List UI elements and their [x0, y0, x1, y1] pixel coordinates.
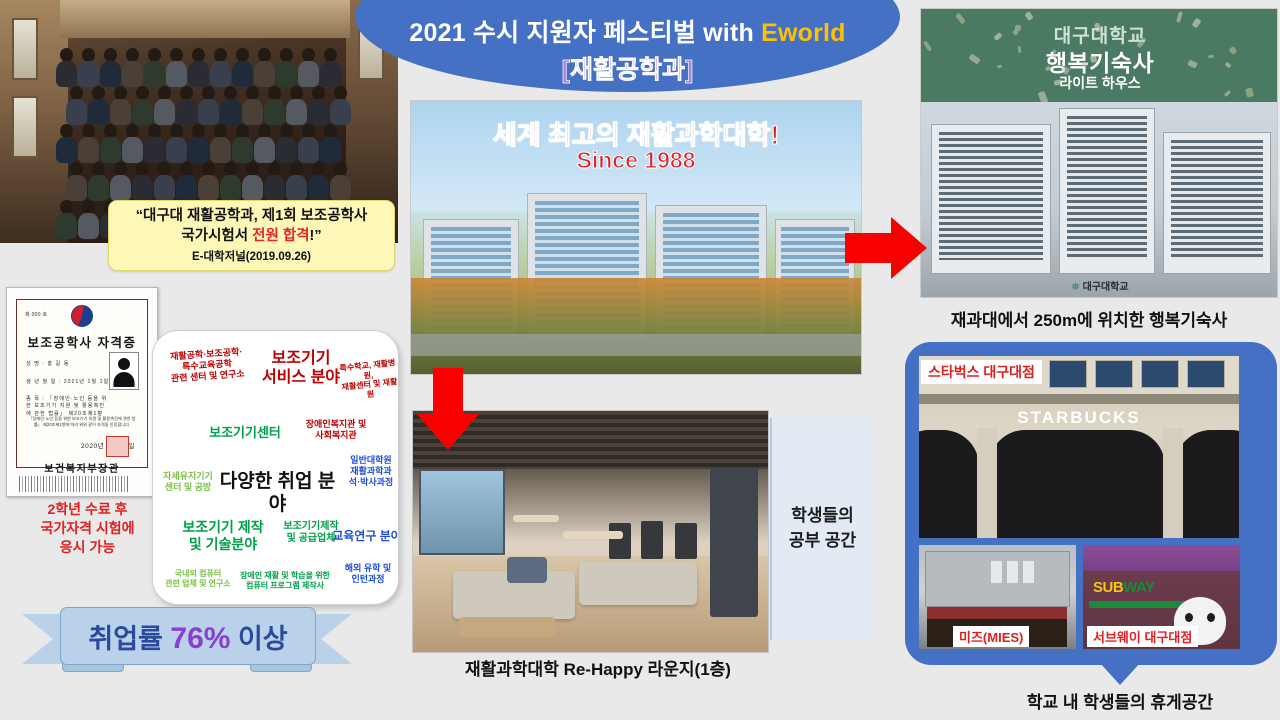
wordcloud-term: 보조기기 제작 및 기술분야 — [167, 519, 279, 553]
crowd-person-body — [308, 175, 329, 201]
wordcloud-term: 장애인 재활 및 학습을 위한 컴퓨터 프로그램 제작사 — [235, 571, 335, 590]
crowd-person-body — [100, 137, 121, 163]
certificate-portrait — [109, 352, 139, 390]
crowd-person — [60, 200, 73, 214]
crowd-person — [192, 124, 205, 138]
crowd-person — [268, 162, 281, 176]
starbucks-label: 스타벅스 대구대점 — [921, 360, 1042, 384]
starbucks-column-1 — [977, 428, 997, 538]
crowd-person-body — [210, 137, 231, 163]
arrow-right-icon — [845, 215, 927, 281]
crowd-person — [114, 162, 127, 176]
crowd-person — [334, 162, 347, 176]
starbucks-window-2 — [1095, 360, 1133, 388]
crowd-person — [60, 48, 73, 62]
crowd-person-body — [254, 137, 275, 163]
crowd-person-body — [264, 175, 285, 201]
crowd-person — [214, 124, 227, 138]
crowd-person — [202, 86, 215, 100]
starbucks-sign: STARBUCKS — [919, 408, 1239, 428]
crowd-person-body — [66, 99, 87, 125]
crowd-person-body — [298, 137, 319, 163]
employment-rate-ribbon: 취업률 76% 이상 — [22, 604, 352, 674]
crowd-person — [92, 86, 105, 100]
crowd-person — [268, 86, 281, 100]
crowd-person-body — [198, 99, 219, 125]
crowd-person — [136, 86, 149, 100]
crowd-person-body — [188, 61, 209, 87]
certificate-row-scope: 종 목 : 「장애인·노인 등을 위한 보조기기 지원 및 활용촉진에 관한 법… — [26, 396, 110, 418]
crowd-person-body — [144, 137, 165, 163]
crowd-person — [312, 162, 325, 176]
campus-photo: 세계 최고의 재활과학대학! Since 1988 — [410, 100, 862, 375]
certificate-barcode — [19, 476, 129, 492]
dormitory-logo-label: 대구대학교 — [1083, 282, 1129, 293]
crowd-person — [192, 48, 205, 62]
subway-label: 서브웨이 대구대점 — [1087, 626, 1198, 647]
crowd-person — [258, 124, 271, 138]
wordcloud-term: 보조기기 서비스 분야 — [253, 349, 349, 387]
mies-window-2 — [1007, 561, 1018, 583]
dormitory-building-photo: ❄ 대구대학교 — [921, 102, 1278, 298]
crowd-person-body — [78, 61, 99, 87]
starbucks-arch-center — [989, 430, 1165, 538]
crowd-person-body — [232, 61, 253, 87]
lounge-chair-3 — [675, 523, 697, 559]
study-space-text: 학생들의 공부 공간 — [789, 504, 856, 553]
crowd-person — [180, 86, 193, 100]
wordcloud-term: 보조기기센터 — [189, 425, 301, 441]
crowd-person — [246, 162, 259, 176]
crowd-person — [290, 162, 303, 176]
crowd-person-body — [254, 61, 275, 87]
subway-sign: SUBWAY — [1093, 579, 1154, 596]
crowd-person — [302, 124, 315, 138]
confetti-decoration — [1024, 11, 1033, 21]
crowd-person — [148, 124, 161, 138]
crowd-person-body — [188, 137, 209, 163]
ribbon-percent: 76% — [170, 622, 230, 655]
lounge-chair-1 — [609, 523, 631, 559]
dormitory-logo-text: ❄ 대구대학교 — [1071, 278, 1128, 293]
crowd-person-body — [330, 99, 351, 125]
crowd-person-body — [286, 99, 307, 125]
starbucks-facade-band — [919, 394, 1239, 404]
campus-road — [411, 334, 861, 356]
wordcloud-term: 교육연구 분야 — [331, 529, 399, 543]
dorm-windows-right — [1171, 140, 1263, 260]
crowd-person-body — [88, 175, 109, 201]
crowd-person-body — [176, 175, 197, 201]
lounge-caption: 재활과학대학 Re-Happy 라운지(1층) — [398, 655, 798, 680]
crowd-person — [236, 124, 249, 138]
campus-foliage — [411, 278, 861, 374]
crowd-person-body — [220, 99, 241, 125]
crowd-person — [280, 48, 293, 62]
dormitory-photo: 대구대학교 행복기숙사 라이트 하우스 ❄ 대구대학교 — [920, 8, 1278, 298]
crowd-person-body — [78, 213, 99, 239]
crowd-person-body — [242, 99, 263, 125]
crowd-person — [224, 86, 237, 100]
quote-line-1: “대구대 재활공학과, 제1회 보조공학사 — [136, 207, 368, 227]
crowd-person — [60, 124, 73, 138]
dormitory-banner: 대구대학교 행복기숙사 라이트 하우스 — [921, 9, 1278, 102]
crowd-person-body — [198, 175, 219, 201]
crowd-person-body — [122, 61, 143, 87]
career-wordcloud: 재활공학·보조공학· 특수교육공학 관련 센터 및 연구소보조기기 서비스 분야… — [152, 330, 399, 605]
wordcloud-term: 다양한 취업 분야 — [215, 471, 340, 517]
certificate-doc-no: 제 000 호 — [25, 311, 47, 318]
certificate-frame: 제 000 호 보조공학사 자격증 성 명 : 홍 길 동 생 년 월 일 : … — [16, 299, 148, 468]
crowd-person — [92, 162, 105, 176]
wordcloud-term: 장애인복지관 및 사회복지관 — [293, 419, 379, 441]
mies-label: 미즈(MIES) — [953, 626, 1029, 647]
crowd-person — [258, 48, 271, 62]
crowd-person — [70, 86, 83, 100]
crowd-person — [148, 48, 161, 62]
crowd-person — [136, 162, 149, 176]
crowd-person-body — [144, 61, 165, 87]
crowd-person-body — [110, 175, 131, 201]
quote-source: E-대학저널(2019.09.26) — [192, 248, 311, 264]
certificate-signature: 보건복지부장관 — [17, 460, 147, 475]
wordcloud-term: 재활공학·보조공학· 특수교육공학 관련 센터 및 연구소 — [158, 346, 256, 385]
shops-caption: 학교 내 학생들의 휴게공간 — [960, 688, 1280, 713]
crowd-person-body — [56, 137, 77, 163]
crowd-person-body — [210, 61, 231, 87]
campus-shops-panel: STARBUCKS 스타벅스 대구대점 미즈(MIES) SUBWAY 서브웨이… — [905, 342, 1277, 665]
photo-window-2 — [12, 96, 38, 158]
crowd-person-body — [154, 175, 175, 201]
crowd-person-body — [110, 99, 131, 125]
photo-window-1 — [12, 18, 38, 80]
crowd-person — [170, 124, 183, 138]
crowd-person — [158, 86, 171, 100]
certificate-row-birth: 생 년 월 일 : 2021년 1월 1일 — [26, 378, 109, 385]
crowd-person — [82, 200, 95, 214]
slide-canvas: 2021 수시 지원자 페스티벌 with Eworld [재활공학과] “대구… — [0, 0, 1280, 720]
lounge-partition — [710, 467, 758, 617]
government-emblem-icon — [71, 305, 93, 327]
crowd-person-body — [132, 175, 153, 201]
crowd-person — [202, 162, 215, 176]
crowd-person — [246, 86, 259, 100]
crowd-person-body — [320, 61, 341, 87]
lounge-cushion — [507, 557, 547, 583]
quote-line2-red: 전원 합격 — [252, 228, 309, 244]
crowd-person-body — [232, 137, 253, 163]
crowd-person — [114, 86, 127, 100]
campus-since: Since 1988 — [411, 147, 861, 174]
crowd-person — [126, 48, 139, 62]
photo-ceiling — [60, 0, 350, 38]
crowd-person-body — [286, 175, 307, 201]
mies-window-3 — [1023, 561, 1034, 583]
crowd-person — [82, 124, 95, 138]
crowd-person — [302, 48, 315, 62]
dorm-windows-mid — [1067, 116, 1147, 260]
wordcloud-term: 해외 유학 및 인턴과정 — [339, 563, 397, 585]
subway-sign-way: WAY — [1123, 579, 1154, 596]
starbucks-window-4 — [1187, 360, 1225, 388]
quote-line2-pre: 국가시험서 — [181, 228, 252, 244]
ribbon-post: 이상 — [230, 624, 287, 654]
mies-window-1 — [991, 561, 1002, 583]
arrow-down-icon — [415, 368, 481, 450]
crowd-person-body — [132, 99, 153, 125]
ribbon-body: 취업률 76% 이상 — [60, 607, 316, 665]
title-line1-main: 2021 수시 지원자 페스티벌 with — [409, 19, 761, 47]
crowd-person-body — [276, 61, 297, 87]
chevron-down-icon — [1100, 663, 1140, 685]
crowd-person-body — [242, 175, 263, 201]
crowd-person-body — [66, 175, 87, 201]
certificate-image: 제 000 호 보조공학사 자격증 성 명 : 홍 길 동 생 년 월 일 : … — [6, 287, 158, 497]
ribbon-pre: 취업률 — [88, 624, 170, 654]
crowd-person-body — [176, 99, 197, 125]
crowd-person-body — [100, 61, 121, 87]
lounge-chair-2 — [641, 521, 663, 559]
lounge-table-1 — [563, 531, 623, 539]
crowd-person — [334, 86, 347, 100]
crowd-person — [126, 124, 139, 138]
crowd-person — [104, 124, 117, 138]
starbucks-arch-right — [1175, 430, 1239, 538]
dorm-windows-left — [939, 132, 1043, 260]
lounge-table-2 — [513, 515, 559, 522]
subway-photo: SUBWAY 서브웨이 대구대점 — [1083, 545, 1240, 649]
crowd-person — [170, 48, 183, 62]
crowd-person — [214, 48, 227, 62]
crowd-person — [324, 48, 337, 62]
crowd-person — [324, 124, 337, 138]
lounge-window — [419, 469, 505, 555]
crowd-person-body — [264, 99, 285, 125]
crowd-person-body — [56, 213, 77, 239]
certificate-seal-icon — [106, 436, 129, 457]
wordcloud-term: 자세유지기기 센터 및 공방 — [157, 471, 219, 493]
employment-rate-text: 취업률 76% 이상 — [88, 617, 287, 656]
crowd-person-body — [122, 137, 143, 163]
subway-sign-sub: SUB — [1093, 579, 1123, 596]
dormitory-caption: 재과대에서 250m에 위치한 행복기숙사 — [898, 306, 1280, 331]
crowd-person-body — [308, 99, 329, 125]
crowd-person-body — [166, 61, 187, 87]
crowd-person-body — [78, 137, 99, 163]
wordcloud-term: 국내외 컴퓨터 관련 업체 및 연구소 — [159, 569, 237, 588]
crowd-person — [82, 48, 95, 62]
crowd-person-body — [154, 99, 175, 125]
crowd-person-body — [276, 137, 297, 163]
crowd-person — [224, 162, 237, 176]
news-quote-box: “대구대 재활공학과, 제1회 보조공학사 국가시험서 전원 합격!” E-대학… — [108, 200, 395, 271]
title-line1: 2021 수시 지원자 페스티벌 with Eworld — [409, 13, 845, 49]
crowd-person-body — [298, 61, 319, 87]
crowd-person — [70, 162, 83, 176]
crowd-person-body — [330, 175, 351, 201]
crowd-person — [290, 86, 303, 100]
certificate-caption: 2학년 수료 후 국가자격 시험에 응시 가능 — [0, 500, 175, 557]
certificate-row-name: 성 명 : 홍 길 동 — [26, 360, 70, 367]
mies-photo: 미즈(MIES) — [919, 545, 1076, 649]
title-line1-accent: Eworld — [761, 19, 846, 47]
confetti-decoration — [1090, 55, 1097, 63]
lounge-sofa-right — [579, 561, 697, 605]
study-space-callout: 학생들의 공부 공간 — [770, 418, 873, 640]
starbucks-column-2 — [1163, 428, 1183, 538]
starbucks-arch-left — [919, 430, 979, 538]
crowd-person — [312, 86, 325, 100]
wordcloud-term: 특수학교, 재활병원, 재활센터 및 재활원 — [336, 358, 399, 403]
crowd-person-body — [320, 137, 341, 163]
crowd-person — [280, 124, 293, 138]
quote-line-2: 국가시험서 전원 합격!” — [181, 227, 321, 247]
crowd-person — [236, 48, 249, 62]
dormitory-subtitle: 라이트 하우스 — [921, 73, 1278, 93]
wordcloud-term: 일반대학원 재활과학과 석·박사과정 — [343, 455, 399, 487]
certificate-title: 보조공학사 자격증 — [17, 332, 147, 351]
lounge-coffee-table — [459, 617, 555, 637]
certificate-note: 「장애인·노인 등을 위한 보조기기 지원 및 활용촉진에 관한 법률」 제20… — [26, 416, 138, 429]
crowd-person — [158, 162, 171, 176]
quote-line2-post: !” — [310, 228, 322, 244]
crowd-person-body — [220, 175, 241, 201]
title-line2: [재활공학과] — [562, 50, 694, 86]
crowd-person-body — [166, 137, 187, 163]
crowd-person-body — [88, 99, 109, 125]
starbucks-window-3 — [1141, 360, 1179, 388]
crowd-person — [180, 162, 193, 176]
title-banner: 2021 수시 지원자 페스티벌 with Eworld [재활공학과] — [355, 0, 900, 92]
starbucks-window-1 — [1049, 360, 1087, 388]
mies-awning — [927, 607, 1067, 619]
crowd-person — [104, 48, 117, 62]
crowd-person-body — [56, 61, 77, 87]
